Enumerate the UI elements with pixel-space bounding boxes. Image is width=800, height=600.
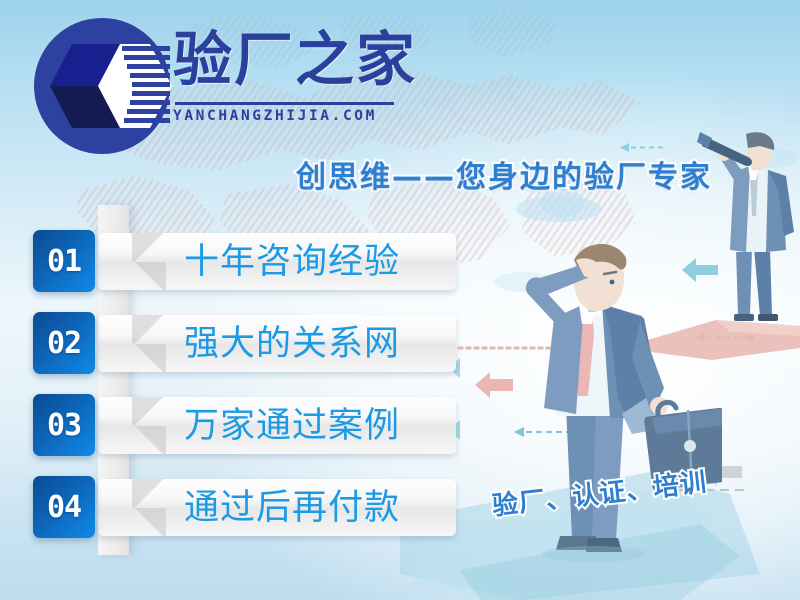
feature-label: 通过后再付款 [184, 489, 400, 527]
company-logo-icon [32, 16, 172, 156]
feature-label: 十年咨询经验 [184, 243, 400, 281]
feature-number-badge: 03 [33, 394, 95, 456]
feature-number-badge: 04 [33, 476, 95, 538]
brand-name-cn: 验厂之家 [173, 20, 413, 100]
feature-number: 02 [47, 326, 81, 361]
feature-number: 01 [47, 244, 81, 279]
chevron-notch-icon [132, 315, 166, 372]
brand-domain: YANCHANGZHIJIA.COM [173, 108, 413, 124]
slogan-label: 创思维——您身边的验厂专家 [296, 160, 712, 195]
feature-label-bar: 强大的关系网 [98, 315, 456, 372]
feature-label: 万家通过案例 [184, 407, 400, 445]
feature-label-bar: 万家通过案例 [98, 397, 456, 454]
feature-number: 04 [47, 490, 81, 525]
feature-label-bar: 通过后再付款 [98, 479, 456, 536]
feature-number: 03 [47, 408, 81, 443]
feature-label-bar: 十年咨询经验 [98, 233, 456, 290]
banner-canvas: 验厂之家 YANCHANGZHIJIA.COM 创思维——您身边的验厂专家 十年… [0, 0, 800, 600]
feature-number-badge: 01 [33, 230, 95, 292]
chevron-notch-icon [132, 479, 166, 536]
feature-number-badge: 02 [33, 312, 95, 374]
brand-wordmark: 验厂之家 YANCHANGZHIJIA.COM [173, 20, 413, 124]
brand-rule [175, 102, 394, 105]
chevron-notch-icon [132, 233, 166, 290]
feature-label: 强大的关系网 [184, 325, 400, 363]
chevron-notch-icon [132, 397, 166, 454]
slogan-text: 创思维——您身边的验厂专家 [296, 152, 712, 196]
